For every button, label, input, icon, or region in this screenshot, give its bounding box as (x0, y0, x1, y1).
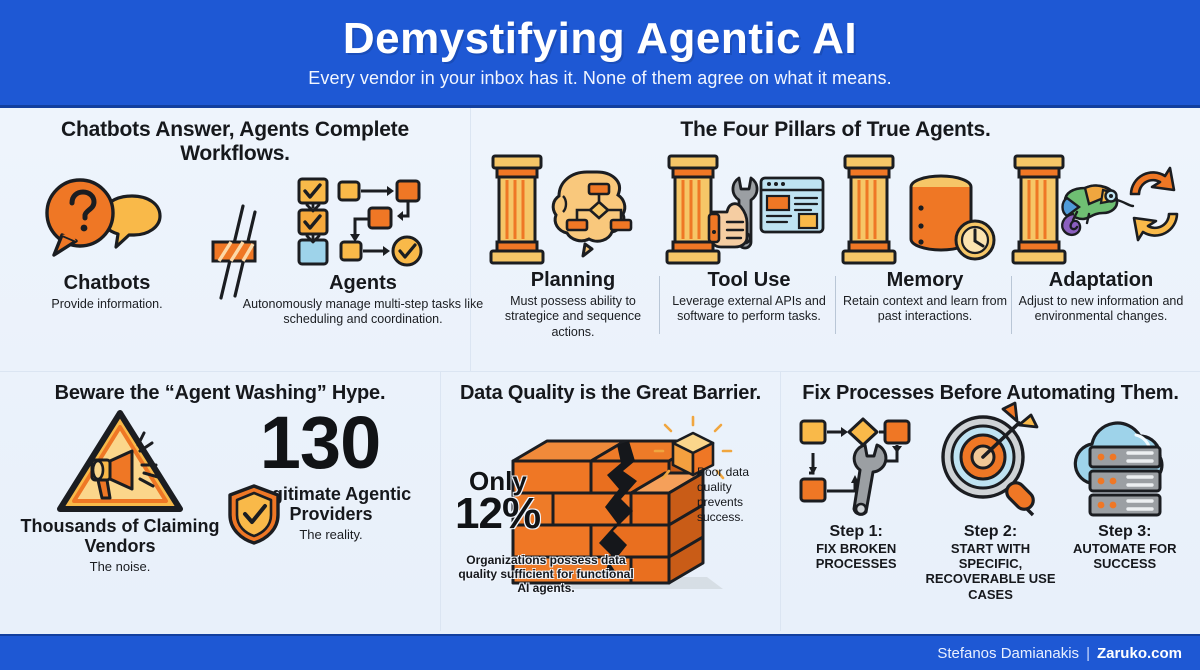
pillar-desc: Retain context and learn from past inter… (837, 294, 1013, 325)
clock-icon (956, 221, 994, 259)
panel-agent-washing: Beware the “Agent Washing” Hype. (0, 372, 440, 631)
poor-data-quality-note: Poor data quality prevents success. (697, 465, 781, 525)
panel-four-pillars: The Four Pillars of True Agents. (470, 108, 1200, 371)
footer-brand[interactable]: Zaruko.com (1097, 645, 1182, 662)
wrench-flowchart-icon (790, 411, 922, 523)
legitimate-providers-column: 130 Legitimate Agentic Providers The rea… (220, 409, 420, 543)
browser-window-icon (761, 178, 823, 232)
chatbots-column: Chatbots Provide information. (17, 176, 197, 312)
panel-fix-processes: Fix Processes Before Automating Them. (780, 372, 1200, 631)
pillar-adaptation: Adaptation Adjust to new information and… (1013, 148, 1189, 341)
workflow-checklist-icon (273, 176, 453, 268)
shield-check-icon (226, 483, 282, 545)
chatbots-label: Chatbots (17, 272, 197, 295)
page-footer: Stefanos Damianakis | Zaruko.com (0, 634, 1200, 670)
comparison-row: Chatbots Provide information. (8, 176, 462, 328)
tool-use-art (661, 148, 837, 268)
infographic-page: Demystifying Agentic AI Every vendor in … (0, 0, 1200, 670)
step-3: Step 3: AUTOMATE FOR SUCCESS (1059, 411, 1191, 602)
brain-icon (553, 172, 631, 256)
agent-washing-row: Thousands of Claiming Vendors The noise.… (8, 409, 432, 575)
footer-author: Stefanos Damianakis (937, 645, 1079, 662)
pillar-desc: Must possess ability to strategice and s… (485, 294, 661, 341)
claiming-vendors-label: Thousands of Claiming Vendors (20, 517, 220, 557)
step-number: Step 2: (924, 523, 1056, 541)
planning-art (485, 148, 661, 268)
bottom-row: Beware the “Agent Washing” Hype. (0, 371, 1200, 631)
step-2: Step 2: START WITH SPECIFIC, RECOVERABLE… (924, 411, 1056, 602)
adaptation-art (1013, 148, 1189, 268)
step-text: START WITH SPECIFIC, RECOVERABLE USE CAS… (924, 541, 1056, 602)
pillar-desc: Leverage external APIs and software to p… (661, 294, 837, 325)
pillar-label: Tool Use (661, 269, 837, 292)
agents-desc: Autonomously manage multi-step tasks lik… (239, 297, 487, 328)
column-icon (491, 156, 543, 263)
agents-label: Agents (273, 272, 453, 295)
step-text: FIX BROKEN PROCESSES (790, 541, 922, 572)
chameleon-icon (1062, 185, 1133, 234)
panel-data-quality: Data Quality is the Great Barrier. (440, 372, 780, 631)
target-arrow-magnifier-icon (924, 411, 1056, 523)
pillar-memory: Memory Retain context and learn from pas… (837, 148, 1013, 341)
panel-title-chatbots: Chatbots Answer, Agents Complete Workflo… (8, 118, 462, 166)
speech-bubbles-question-icon (17, 176, 197, 268)
panel-title-pillars: The Four Pillars of True Agents. (479, 118, 1192, 142)
legit-provider-count: 130 (220, 409, 420, 477)
pillar-label: Planning (485, 269, 661, 292)
not-equal-slash-icon (197, 206, 273, 298)
pillars-row: Planning Must possess ability to strateg… (479, 148, 1192, 341)
data-quality-stat: Only 12% (455, 469, 540, 535)
page-title: Demystifying Agentic AI (343, 16, 857, 62)
step-number: Step 3: (1059, 523, 1191, 541)
step-text: AUTOMATE FOR SUCCESS (1059, 541, 1191, 572)
not-equal-divider (197, 176, 273, 298)
page-header: Demystifying Agentic AI Every vendor in … (0, 0, 1200, 108)
wrench-hand-icon (709, 178, 757, 248)
infographic-body: Chatbots Answer, Agents Complete Workflo… (0, 108, 1200, 634)
memory-art (837, 148, 1013, 268)
step-number: Step 1: (790, 523, 922, 541)
pillar-label: Adaptation (1013, 269, 1189, 292)
cloud-server-rack-icon (1059, 411, 1191, 523)
pillar-planning: Planning Must possess ability to strateg… (485, 148, 661, 341)
chatbots-desc: Provide information. (17, 297, 197, 312)
refresh-cycle-icon (1131, 168, 1177, 240)
page-subtitle: Every vendor in your inbox has it. None … (308, 68, 891, 89)
data-quality-caption: Organizations possess data quality suffi… (451, 553, 641, 595)
pillar-desc: Adjust to new information and environmen… (1013, 294, 1189, 325)
top-row: Chatbots Answer, Agents Complete Workflo… (0, 108, 1200, 371)
pillar-label: Memory (837, 269, 1013, 292)
panel-title-fix-processes: Fix Processes Before Automating Them. (789, 382, 1192, 405)
claiming-vendors-note: The noise. (20, 559, 220, 574)
step-1: Step 1: FIX BROKEN PROCESSES (790, 411, 922, 602)
panel-title-data-quality: Data Quality is the Great Barrier. (449, 382, 772, 405)
claiming-vendors-column: Thousands of Claiming Vendors The noise. (20, 409, 220, 575)
pillar-tool-use: Tool Use Leverage external APIs and soft… (661, 148, 837, 341)
stat-value: 12% (455, 493, 540, 535)
column-icon (843, 156, 895, 263)
warning-megaphone-icon (20, 409, 220, 517)
steps-row: Step 1: FIX BROKEN PROCESSES (789, 411, 1192, 602)
agents-column: Agents Autonomously manage multi-step ta… (273, 176, 453, 328)
column-icon (667, 156, 719, 263)
column-icon (1013, 156, 1065, 263)
data-quality-visual: Only 12% Organizations possess data qual… (449, 407, 772, 602)
footer-separator: | (1086, 645, 1090, 662)
panel-chatbots-vs-agents: Chatbots Answer, Agents Complete Workflo… (0, 108, 470, 371)
